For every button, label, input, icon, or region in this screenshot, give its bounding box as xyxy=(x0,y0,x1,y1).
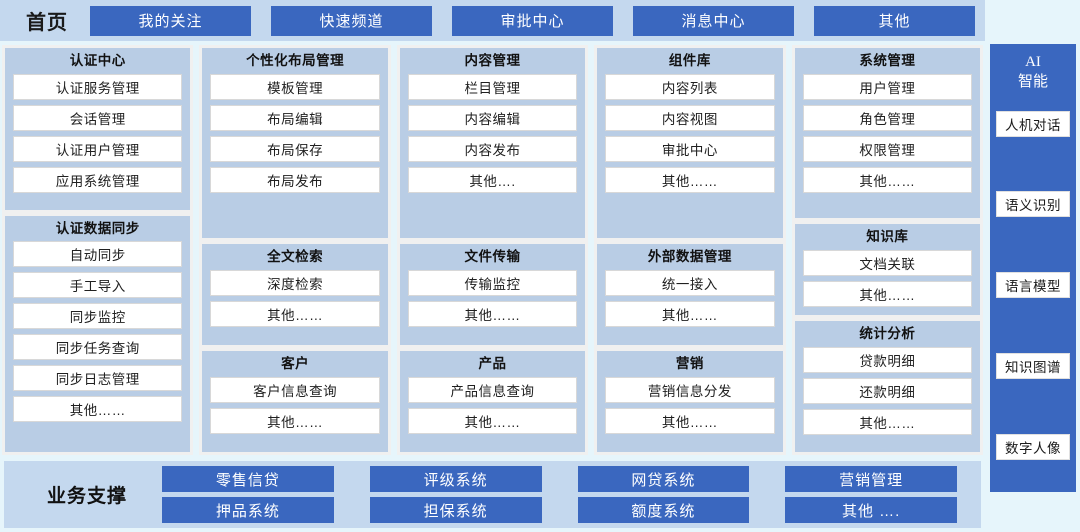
module-item-list: 统一接入其他…… xyxy=(605,270,774,327)
module-group-title: 系统管理 xyxy=(803,52,972,74)
module-item[interactable]: 营销信息分发 xyxy=(605,377,774,403)
module-item-list: 自动同步手工导入同步监控同步任务查询同步日志管理其他…… xyxy=(13,241,182,422)
module-item[interactable]: 其他…… xyxy=(408,408,577,434)
business-support-chip-list: 零售信贷评级系统网贷系统营销管理押品系统担保系统额度系统其他 …. xyxy=(162,466,973,523)
module-group: 客户客户信息查询其他…… xyxy=(202,351,387,452)
module-item-list: 深度检索其他…… xyxy=(210,270,379,327)
module-item[interactable]: 内容发布 xyxy=(408,136,577,162)
module-item[interactable]: 其他…… xyxy=(605,408,774,434)
module-group-title: 客户 xyxy=(210,355,379,377)
module-column: 认证中心认证服务管理会话管理认证用户管理应用系统管理认证数据同步自动同步手工导入… xyxy=(2,45,193,455)
module-item[interactable]: 应用系统管理 xyxy=(13,167,182,193)
module-item-list: 营销信息分发其他…… xyxy=(605,377,774,434)
module-item[interactable]: 同步监控 xyxy=(13,303,182,329)
module-item[interactable]: 其他…… xyxy=(13,396,182,422)
ai-panel-item-list: 人机对话语义识别语言模型知识图谱数字人像 xyxy=(996,111,1070,483)
module-group-title: 统计分析 xyxy=(803,325,972,347)
module-item[interactable]: 手工导入 xyxy=(13,272,182,298)
module-item[interactable]: 用户管理 xyxy=(803,74,972,100)
module-group: 外部数据管理统一接入其他…… xyxy=(597,244,782,345)
module-group: 系统管理用户管理角色管理权限管理其他…… xyxy=(795,48,980,218)
module-item[interactable]: 其他…… xyxy=(803,281,972,307)
module-item[interactable]: 其他…… xyxy=(210,408,379,434)
module-group: 认证中心认证服务管理会话管理认证用户管理应用系统管理 xyxy=(5,48,190,210)
module-item-list: 模板管理布局编辑布局保存布局发布 xyxy=(210,74,379,193)
module-item[interactable]: 统一接入 xyxy=(605,270,774,296)
module-item-list: 产品信息查询其他…… xyxy=(408,377,577,434)
business-support-chip[interactable]: 营销管理 xyxy=(785,466,957,492)
business-support-chip[interactable]: 评级系统 xyxy=(370,466,542,492)
module-item[interactable]: 角色管理 xyxy=(803,105,972,131)
module-group: 产品产品信息查询其他…… xyxy=(400,351,585,452)
ai-panel-item[interactable]: 语言模型 xyxy=(996,272,1070,298)
ai-panel-item[interactable]: 数字人像 xyxy=(996,434,1070,460)
module-group: 全文检索深度检索其他…… xyxy=(202,244,387,345)
module-item[interactable]: 文档关联 xyxy=(803,250,972,276)
business-support-chip[interactable]: 押品系统 xyxy=(162,497,334,523)
homepage-portal: 首页 我的关注快速频道审批中心消息中心其他 认证中心认证服务管理会话管理认证用户… xyxy=(0,0,1080,532)
module-group-title: 文件传输 xyxy=(408,248,577,270)
module-item[interactable]: 其他…… xyxy=(408,301,577,327)
business-support-chip[interactable]: 零售信贷 xyxy=(162,466,334,492)
module-column: 组件库内容列表内容视图审批中心其他……外部数据管理统一接入其他……营销营销信息分… xyxy=(594,45,785,455)
ai-panel-item[interactable]: 语义识别 xyxy=(996,191,1070,217)
module-group-title: 个性化布局管理 xyxy=(210,52,379,74)
module-group: 组件库内容列表内容视图审批中心其他…… xyxy=(597,48,782,238)
module-group-title: 知识库 xyxy=(803,228,972,250)
module-item-list: 认证服务管理会话管理认证用户管理应用系统管理 xyxy=(13,74,182,193)
nav-tab[interactable]: 其他 xyxy=(814,6,975,36)
module-item[interactable]: 内容视图 xyxy=(605,105,774,131)
module-item-list: 内容列表内容视图审批中心其他…… xyxy=(605,74,774,193)
module-item[interactable]: 布局发布 xyxy=(210,167,379,193)
business-support-label: 业务支撑 xyxy=(12,481,162,508)
module-item[interactable]: 深度检索 xyxy=(210,270,379,296)
module-group-title: 认证数据同步 xyxy=(13,220,182,242)
business-support-chip[interactable]: 担保系统 xyxy=(370,497,542,523)
module-item[interactable]: 其他…… xyxy=(803,167,972,193)
module-group: 统计分析贷款明细还款明细其他…… xyxy=(795,321,980,452)
module-item[interactable]: 认证服务管理 xyxy=(13,74,182,100)
ai-panel-item[interactable]: 知识图谱 xyxy=(996,353,1070,379)
business-support-chip[interactable]: 网贷系统 xyxy=(578,466,750,492)
module-item[interactable]: 其他…… xyxy=(210,301,379,327)
module-item[interactable]: 传输监控 xyxy=(408,270,577,296)
module-group-title: 营销 xyxy=(605,355,774,377)
module-group-title: 产品 xyxy=(408,355,577,377)
module-item-list: 贷款明细还款明细其他…… xyxy=(803,347,972,435)
module-item[interactable]: 其他…. xyxy=(408,167,577,193)
module-group-title: 组件库 xyxy=(605,52,774,74)
module-item[interactable]: 同步日志管理 xyxy=(13,365,182,391)
module-item[interactable]: 贷款明细 xyxy=(803,347,972,373)
ai-panel-item[interactable]: 人机对话 xyxy=(996,111,1070,137)
module-item[interactable]: 认证用户管理 xyxy=(13,136,182,162)
module-column: 系统管理用户管理角色管理权限管理其他……知识库文档关联其他……统计分析贷款明细还… xyxy=(792,45,983,455)
module-item[interactable]: 客户信息查询 xyxy=(210,377,379,403)
module-column: 个性化布局管理模板管理布局编辑布局保存布局发布全文检索深度检索其他……客户客户信… xyxy=(199,45,390,455)
module-item[interactable]: 产品信息查询 xyxy=(408,377,577,403)
ai-panel: AI 智能 人机对话语义识别语言模型知识图谱数字人像 xyxy=(990,44,1076,492)
ai-panel-title-line1: AI xyxy=(1018,52,1048,72)
nav-tab-list: 我的关注快速频道审批中心消息中心其他 xyxy=(90,0,981,41)
module-group-title: 认证中心 xyxy=(13,52,182,74)
module-column: 内容管理栏目管理内容编辑内容发布其他….文件传输传输监控其他……产品产品信息查询… xyxy=(397,45,588,455)
module-item-list: 传输监控其他…… xyxy=(408,270,577,327)
ai-panel-title: AI 智能 xyxy=(1018,52,1048,93)
business-support-chip[interactable]: 额度系统 xyxy=(578,497,750,523)
module-group: 文件传输传输监控其他…… xyxy=(400,244,585,345)
nav-tab[interactable]: 审批中心 xyxy=(452,6,613,36)
module-group: 个性化布局管理模板管理布局编辑布局保存布局发布 xyxy=(202,48,387,238)
page-title: 首页 xyxy=(4,6,90,35)
module-group: 认证数据同步自动同步手工导入同步监控同步任务查询同步日志管理其他…… xyxy=(5,216,190,452)
module-group: 知识库文档关联其他…… xyxy=(795,224,980,315)
module-item[interactable]: 内容列表 xyxy=(605,74,774,100)
module-item[interactable]: 同步任务查询 xyxy=(13,334,182,360)
business-support-bar: 业务支撑 零售信贷评级系统网贷系统营销管理押品系统担保系统额度系统其他 …. xyxy=(4,461,981,528)
module-item[interactable]: 栏目管理 xyxy=(408,74,577,100)
module-columns: 认证中心认证服务管理会话管理认证用户管理应用系统管理认证数据同步自动同步手工导入… xyxy=(0,41,985,455)
module-group-title: 外部数据管理 xyxy=(605,248,774,270)
module-item[interactable]: 模板管理 xyxy=(210,74,379,100)
module-item[interactable]: 布局编辑 xyxy=(210,105,379,131)
module-group: 内容管理栏目管理内容编辑内容发布其他…. xyxy=(400,48,585,238)
nav-tab[interactable]: 我的关注 xyxy=(90,6,251,36)
module-item-list: 用户管理角色管理权限管理其他…… xyxy=(803,74,972,193)
business-support-chip[interactable]: 其他 …. xyxy=(785,497,957,523)
module-item[interactable]: 自动同步 xyxy=(13,241,182,267)
module-item[interactable]: 权限管理 xyxy=(803,136,972,162)
ai-panel-title-line2: 智能 xyxy=(1018,72,1048,92)
module-item[interactable]: 其他…… xyxy=(605,167,774,193)
module-item[interactable]: 会话管理 xyxy=(13,105,182,131)
module-item-list: 栏目管理内容编辑内容发布其他…. xyxy=(408,74,577,193)
module-group: 营销营销信息分发其他…… xyxy=(597,351,782,452)
top-navigation-bar: 首页 我的关注快速频道审批中心消息中心其他 xyxy=(0,0,985,41)
module-item-list: 客户信息查询其他…… xyxy=(210,377,379,434)
module-item[interactable]: 其他…… xyxy=(605,301,774,327)
nav-tab[interactable]: 快速频道 xyxy=(271,6,432,36)
module-item[interactable]: 其他…… xyxy=(803,409,972,435)
module-item[interactable]: 审批中心 xyxy=(605,136,774,162)
module-item[interactable]: 还款明细 xyxy=(803,378,972,404)
module-item-list: 文档关联其他…… xyxy=(803,250,972,307)
module-group-title: 全文检索 xyxy=(210,248,379,270)
module-item[interactable]: 内容编辑 xyxy=(408,105,577,131)
module-group-title: 内容管理 xyxy=(408,52,577,74)
module-item[interactable]: 布局保存 xyxy=(210,136,379,162)
nav-tab[interactable]: 消息中心 xyxy=(633,6,794,36)
